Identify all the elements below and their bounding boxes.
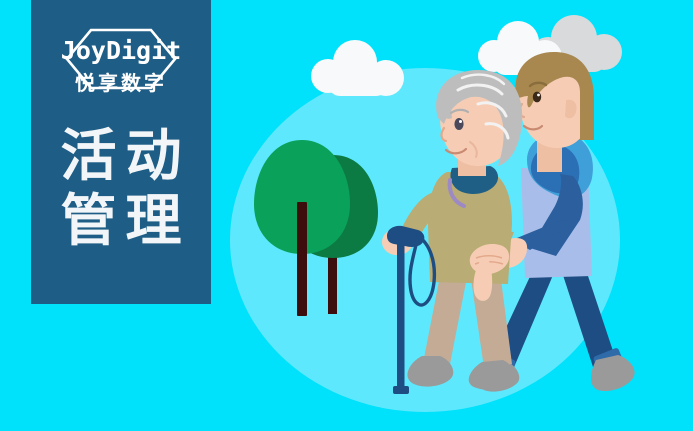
page-title-line-2: 管理: [52, 189, 191, 254]
cloud-left: [311, 40, 404, 96]
title-panel: JoyDigit 悦享数字 活动 管理: [31, 0, 211, 304]
logo-wordmark: JoyDigit: [61, 38, 181, 63]
page-title: 活动 管理: [52, 124, 191, 254]
young-man-eye: [533, 92, 541, 103]
page-title-line-1: 活动: [52, 124, 191, 189]
brand-logo: JoyDigit 悦享数字: [46, 26, 196, 104]
elderly-eye: [454, 118, 463, 130]
poster-canvas: JoyDigit 悦享数字 活动 管理: [0, 0, 693, 431]
logo-chinese-name: 悦享数字: [75, 74, 167, 94]
young-man-front-shoe: [591, 355, 635, 391]
cane-tip: [393, 386, 409, 394]
